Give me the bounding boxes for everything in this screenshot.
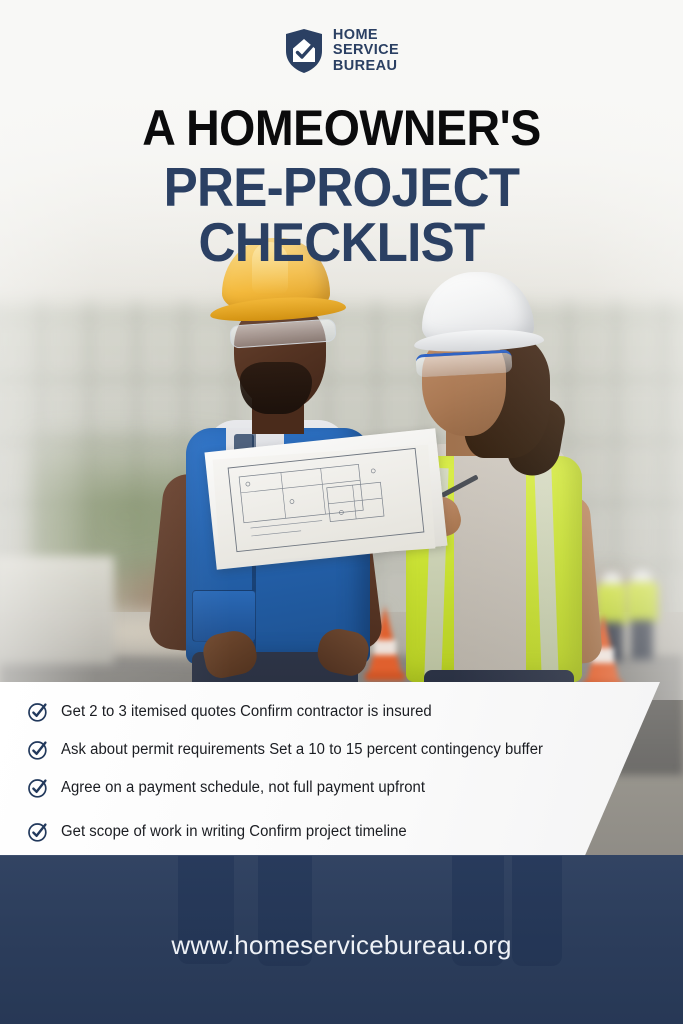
checklist-item-label: Get scope of work in writing Confirm pro… [61, 823, 407, 841]
checklist-item-label: Get 2 to 3 itemised quotes Confirm contr… [61, 703, 432, 721]
checklist-items: Get 2 to 3 itemised quotes Confirm contr… [27, 694, 627, 852]
checklist-item-label: Ask about permit requirements Set a 10 t… [61, 741, 543, 759]
circle-check-icon [27, 821, 49, 843]
checklist-item[interactable]: Ask about permit requirements Set a 10 t… [27, 732, 627, 768]
brand-logo: HOME SERVICE BUREAU [0, 28, 683, 74]
checklist-item[interactable]: Get scope of work in writing Confirm pro… [27, 814, 627, 850]
checklist-item[interactable]: Agree on a payment schedule, not full pa… [27, 770, 627, 806]
poster-canvas: HOME SERVICE BUREAU A HOMEOWNER'S PRE-PR… [0, 0, 683, 1024]
circle-check-icon [27, 777, 49, 799]
brand-line-1: HOME [333, 28, 399, 43]
shield-house-check-icon [284, 28, 324, 74]
circle-check-icon [27, 701, 49, 723]
title-line-2: PRE-PROJECT CHECKLIST [24, 160, 659, 270]
brand-wordmark: HOME SERVICE BUREAU [333, 28, 399, 73]
brand-line-3: BUREAU [333, 59, 399, 74]
checklist-item[interactable]: Get 2 to 3 itemised quotes Confirm contr… [27, 694, 627, 730]
brand-line-2: SERVICE [333, 43, 399, 58]
circle-check-icon [27, 739, 49, 761]
title-line-1: A HOMEOWNER'S [24, 103, 659, 153]
page-title: A HOMEOWNER'S PRE-PROJECT CHECKLIST [0, 103, 683, 270]
checklist-item-label: Agree on a payment schedule, not full pa… [61, 779, 425, 797]
checklist-panel: Get 2 to 3 itemised quotes Confirm contr… [0, 682, 660, 856]
website-url[interactable]: www.homeservicebureau.org [0, 930, 683, 961]
